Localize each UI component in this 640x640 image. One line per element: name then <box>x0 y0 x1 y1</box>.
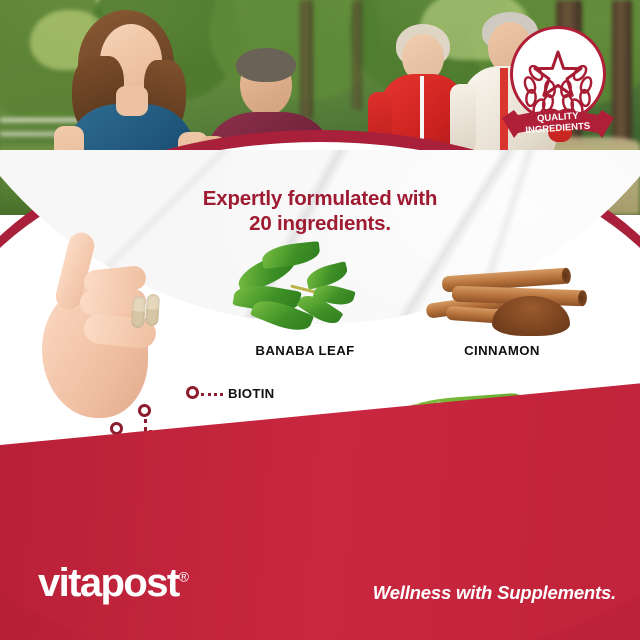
hand-holding-capsules <box>28 228 200 428</box>
capsule <box>145 294 160 327</box>
connector-line-biotin <box>201 393 223 396</box>
ingredient-caption-cinnamon: CINNAMON <box>420 343 584 358</box>
tree-trunk <box>352 0 362 110</box>
hair <box>236 48 296 82</box>
brand-tagline: Wellness with Supplements. <box>373 582 616 604</box>
supplement-infographic-card: QUALITY INGREDIENTS Expertly formulated … <box>0 0 640 640</box>
leaf <box>261 241 321 269</box>
arm <box>450 84 476 152</box>
badge-ribbon: QUALITY INGREDIENTS <box>500 104 616 144</box>
capsule <box>131 296 146 329</box>
headline-line-1: Expertly formulated with <box>0 186 640 211</box>
banaba-leaf-photo <box>232 242 372 338</box>
brand-name: vitapost <box>38 561 179 605</box>
trademark-symbol: ® <box>179 569 188 585</box>
connector-node-biotin <box>186 386 199 399</box>
connector-node-chromium <box>138 404 151 417</box>
quality-ingredients-badge: QUALITY INGREDIENTS <box>500 26 616 150</box>
brand-logo[interactable]: vitapost® <box>38 561 187 606</box>
cinnamon-sticks-photo <box>416 258 588 342</box>
ingredient-label-biotin: BIOTIN <box>228 386 275 401</box>
neck <box>116 86 148 116</box>
ingredient-caption-banaba: BANABA LEAF <box>220 343 390 358</box>
